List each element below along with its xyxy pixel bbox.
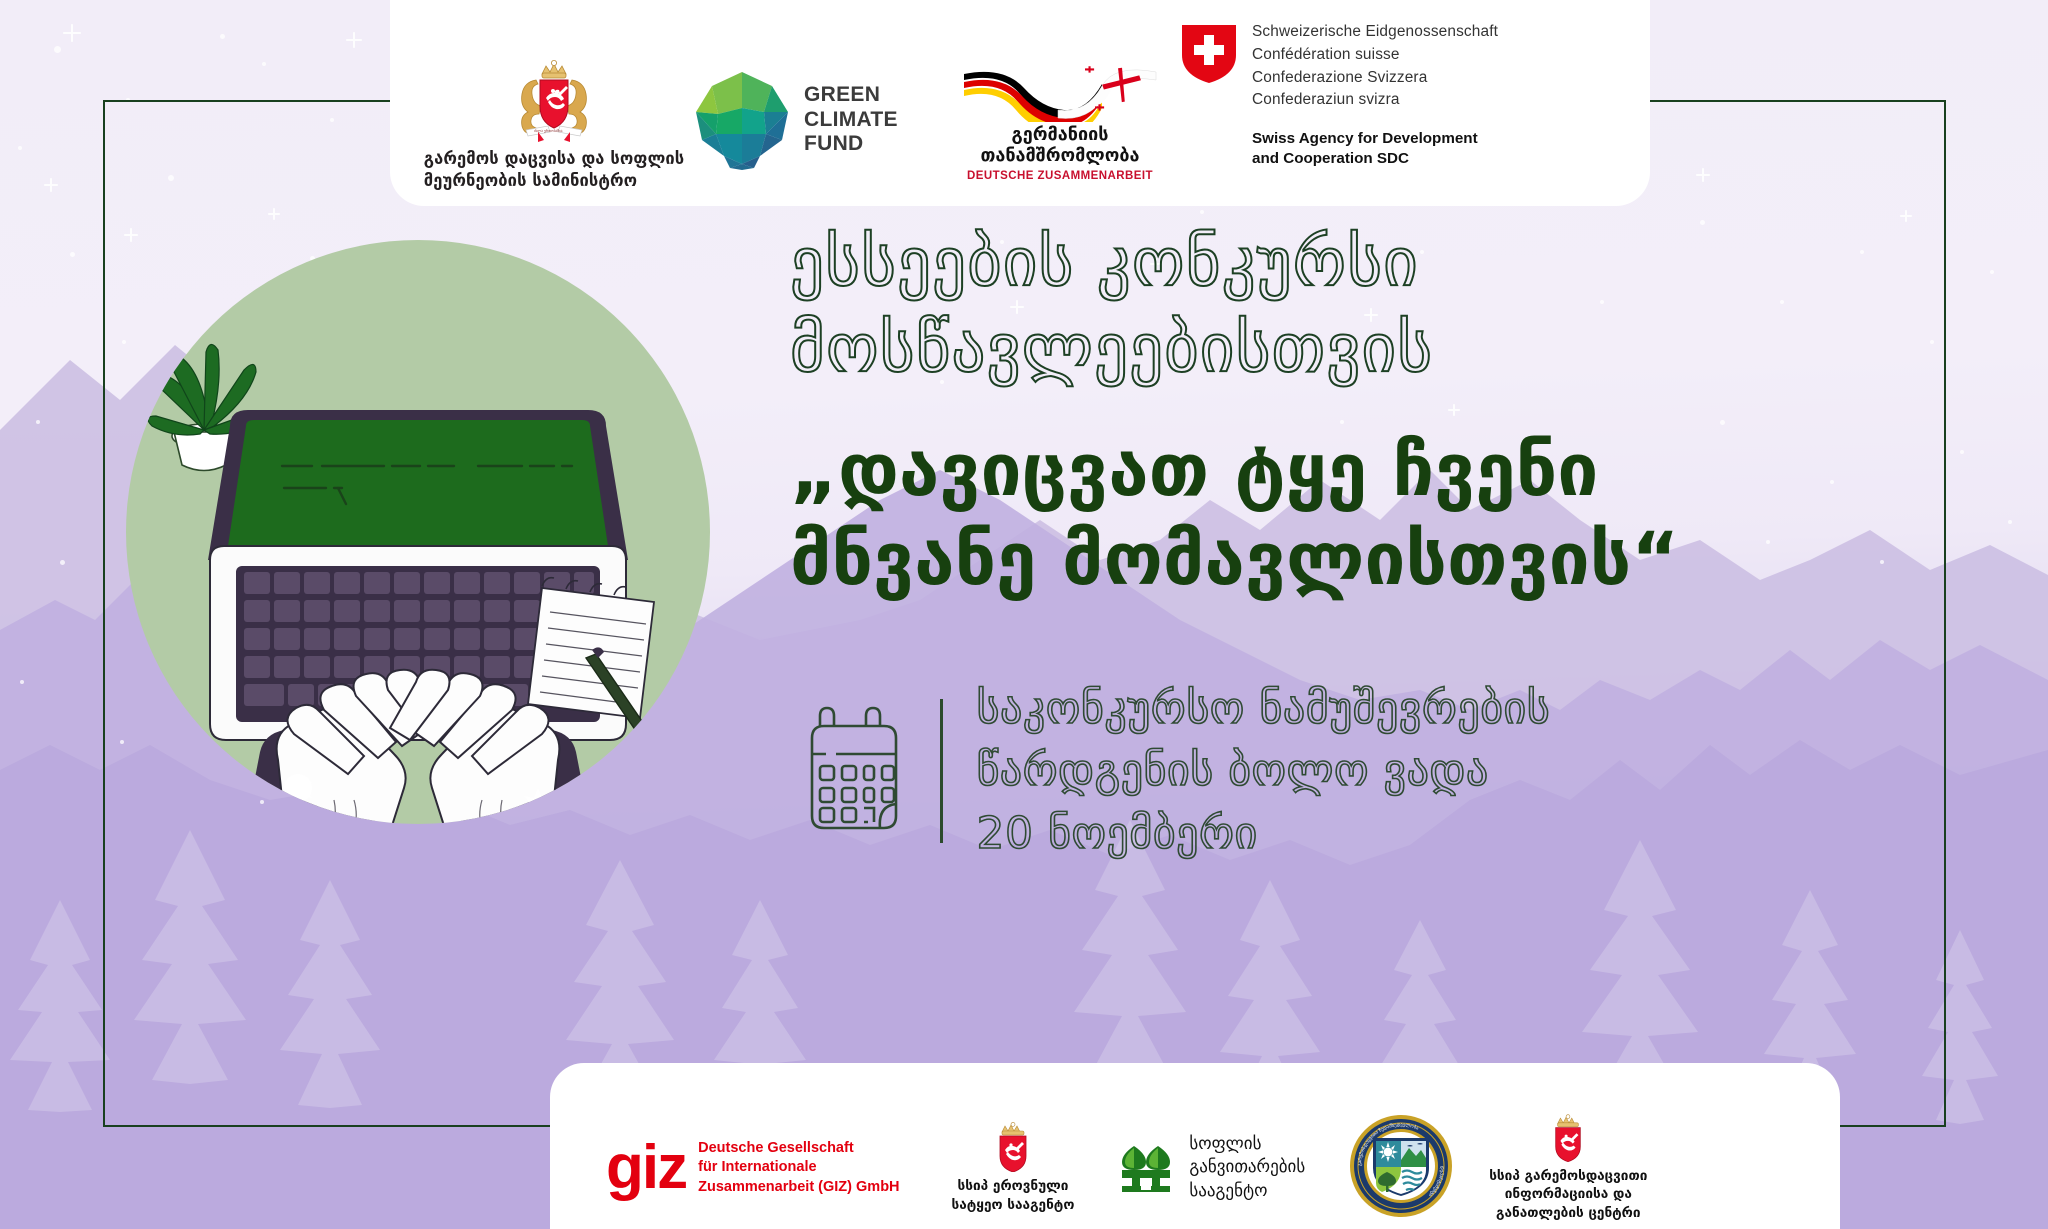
green-climate-fund-globe-icon: [690, 68, 794, 172]
header-logo-panel: ძალა ერთობაშია გარემოს დაცვისა და სოფლის…: [390, 0, 1650, 206]
headline-line-2: მოსწავლეებისთვის: [790, 306, 1910, 392]
page-title: ესსეების კონკურსი მოსწავლეებისთვის: [790, 220, 1910, 392]
laptop-typing-illustration: [126, 240, 710, 824]
rda-line-2: განვითარების: [1189, 1156, 1305, 1179]
quote-line-2: მნვანე მომავლისთვის“: [790, 515, 1910, 604]
gcf-wordmark: GREEN CLIMATE FUND: [804, 83, 898, 156]
eiec-name: სსიპ გარემოსდაცვითი ინფორმაციისა და განა…: [1489, 1167, 1647, 1222]
tree-house-icon: [1120, 1142, 1178, 1194]
logo-rural-development-agency: სოფლის განვითარების სააგენტო: [1074, 1133, 1305, 1202]
de-line-1: გერმანიის: [980, 124, 1139, 146]
poster-root: ესსეების კონკურსი მოსწავლეებისთვის „დავი…: [0, 0, 2048, 1229]
sdc-line-2: and Cooperation SDC: [1252, 149, 1498, 170]
deutsche-zusammenarbeit-label: DEUTSCHE ZUSAMMENARBEIT: [967, 170, 1153, 182]
rda-line-1: სოფლის: [1189, 1133, 1305, 1156]
logo-national-forestry-agency: სსიპ ეროვნული სატყეო სააგენტო: [900, 1122, 1075, 1214]
competition-theme-quote: „დავიცვათ ტყე ჩვენი მნვანე მომავლისთვის“: [790, 426, 1910, 604]
swiss-language-names: Schweizerische Eidgenossenschaft Confédé…: [1252, 21, 1498, 112]
georgia-coat-of-arms-icon: ძალა ერთობაშია: [512, 58, 596, 142]
logo-green-climate-fund: GREEN CLIMATE FUND: [690, 68, 940, 192]
georgia-coat-of-arms-icon: [994, 1122, 1032, 1172]
logo-german-cooperation: გერმანიის თანამშრომლობა DEUTSCHE ZUSAMME…: [940, 64, 1180, 192]
rda-name: სოფლის განვითარების სააგენტო: [1189, 1133, 1305, 1202]
eiec-line-2: ინფორმაციისა და: [1489, 1185, 1647, 1203]
deadline-block: საკონკურსო ნამუშევრების წარდგენის ბოლო ვ…: [790, 678, 1910, 865]
logo-ministry-of-environment: ძალა ერთობაშია გარემოს დაცვისა და სოფლის…: [390, 58, 690, 192]
nfa-line-2: სატყეო სააგენტო: [952, 1196, 1075, 1214]
nfa-line-1: სსიპ ეროვნული: [952, 1177, 1075, 1195]
deadline-line-3: 20 ნოემბერი: [977, 803, 1551, 865]
ministry-name: გარემოს დაცვისა და სოფლის მეურნეობის სამ…: [424, 148, 685, 192]
giz-line-2: für Internationale: [698, 1158, 899, 1178]
nfa-name: სსიპ ეროვნული სატყეო სააგენტო: [952, 1177, 1075, 1214]
logo-environmental-agency-crest: გარემოსდაცვითი ზედამხედველობა დეპარტამენ…: [1305, 1114, 1453, 1222]
swiss-lang-3: Confederazione Svizzera: [1252, 67, 1498, 90]
giz-line-3: Zusammenarbeit (GIZ) GmbH: [698, 1178, 899, 1198]
main-content-column: ესსეების კონკურსი მოსწავლეებისთვის „დავი…: [790, 220, 1910, 865]
giz-wordmark: giz: [606, 1143, 686, 1193]
swiss-agency-label: Swiss Agency for Development and Coopera…: [1252, 129, 1498, 170]
de-line-2: თანამშრომლობა: [980, 145, 1139, 167]
gcf-line-1: GREEN: [804, 83, 898, 107]
environmental-agency-crest-icon: გარემოსდაცვითი ზედამხედველობა დეპარტამენ…: [1349, 1114, 1453, 1218]
deadline-line-2: წარდგენის ბოლო ვადა: [977, 740, 1551, 802]
sdc-line-1: Swiss Agency for Development: [1252, 129, 1498, 150]
swiss-lang-2: Confédération suisse: [1252, 44, 1498, 67]
svg-text:ძალა ერთობაშია: ძალა ერთობაშია: [534, 129, 563, 133]
footer-logo-panel: giz Deutsche Gesellschaft für Internatio…: [550, 1063, 1840, 1229]
calendar-icon: [790, 704, 918, 838]
gcf-line-2: CLIMATE: [804, 108, 898, 132]
rda-line-3: სააგენტო: [1189, 1180, 1305, 1203]
swiss-shield-icon: [1180, 23, 1238, 85]
giz-line-1: Deutsche Gesellschaft: [698, 1139, 899, 1159]
headline-line-1: ესსეების კონკურსი: [790, 220, 1910, 306]
swiss-lang-4: Confederaziun svizra: [1252, 89, 1498, 112]
deadline-text: საკონკურსო ნამუშევრების წარდგენის ბოლო ვ…: [977, 678, 1551, 865]
swiss-lang-1: Schweizerische Eidgenossenschaft: [1252, 21, 1498, 44]
logo-swiss-confederation: Schweizerische Eidgenossenschaft Confédé…: [1180, 21, 1580, 192]
ministry-line-1: გარემოს დაცვისა და სოფლის: [424, 148, 685, 170]
german-georgian-flag-ribbon-icon: [962, 64, 1158, 122]
georgia-coat-of-arms-icon: [1550, 1114, 1586, 1162]
gcf-line-3: FUND: [804, 132, 898, 156]
vertical-divider: [940, 699, 943, 843]
logo-environmental-info-education-centre: სსიპ გარემოსდაცვითი ინფორმაციისა და განა…: [1453, 1114, 1647, 1222]
eiec-line-3: განათლების ცენტრი: [1489, 1204, 1647, 1222]
german-cooperation-name-ka: გერმანიის თანამშრომლობა: [980, 124, 1139, 167]
giz-full-name: Deutsche Gesellschaft für Internationale…: [698, 1139, 899, 1198]
deadline-line-1: საკონკურსო ნამუშევრების: [977, 678, 1551, 740]
ministry-line-2: მეურნეობის სამინისტრო: [424, 170, 685, 192]
eiec-line-1: სსიპ გარემოსდაცვითი: [1489, 1167, 1647, 1185]
quote-line-1: „დავიცვათ ტყე ჩვენი: [790, 426, 1910, 515]
logo-giz: giz Deutsche Gesellschaft für Internatio…: [550, 1139, 900, 1198]
